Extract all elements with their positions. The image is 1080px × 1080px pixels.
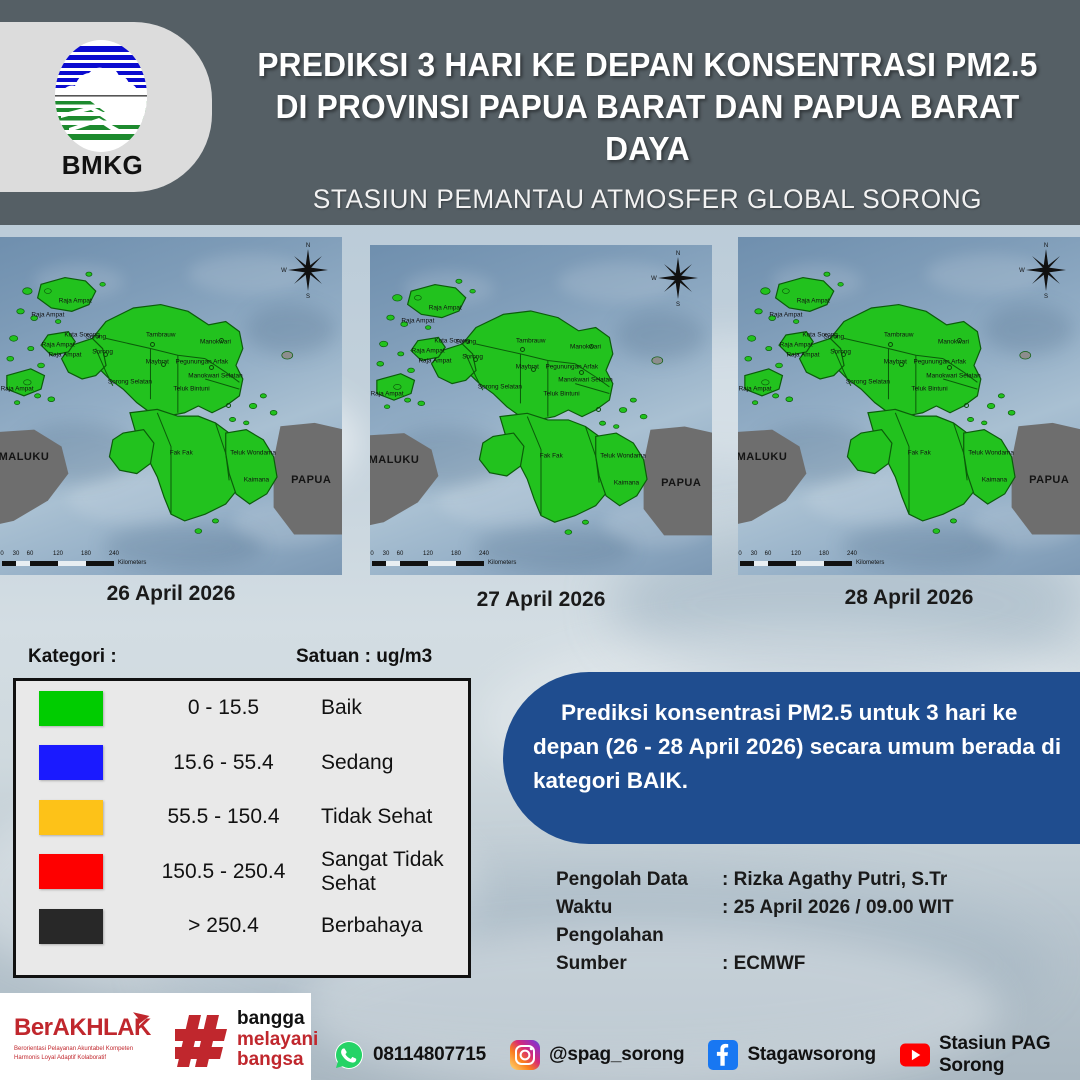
map-island — [762, 380, 770, 385]
social-label: Stasiun PAG Sorong — [939, 1033, 1064, 1077]
bangga-line3: bangsa — [237, 1050, 318, 1071]
map-island — [24, 380, 32, 385]
map-island — [745, 356, 752, 361]
map-island — [793, 320, 798, 324]
scale-segment — [796, 561, 824, 566]
scale-segment — [400, 561, 428, 566]
map-region-label: Tambrauw — [884, 332, 913, 339]
map-region-polygon — [408, 285, 466, 318]
metadata-block: Pengolah Data: Rizka Agathy Putri, S.TrW… — [556, 866, 954, 978]
map-region-label: Sorong — [823, 333, 844, 340]
scale-tick-label: 0 — [738, 551, 741, 557]
map-date-caption: 28 April 2026 — [738, 586, 1080, 610]
map-region-label: Sorong Selatan — [108, 379, 152, 386]
map-region-polygon — [776, 278, 834, 312]
map-island — [752, 401, 757, 405]
social-label: @spag_sorong — [549, 1044, 684, 1066]
social-link[interactable]: Stagawsorong — [708, 1040, 876, 1070]
maluku-landmass — [0, 430, 68, 528]
facebook-icon[interactable] — [708, 1040, 738, 1070]
scale-tick-label: 60 — [765, 551, 772, 557]
map-region-label: Teluk Wondama — [230, 450, 276, 457]
map-region-label: Raja Ampat — [418, 357, 451, 364]
map-province-label: PAPUA — [1029, 474, 1069, 486]
scale-segment — [372, 561, 386, 566]
compass-rose-icon: N S W — [280, 241, 336, 299]
map-island — [987, 403, 995, 408]
footer-logo-band: BerAKHLAK Berorientasi Pelayanan Akuntab… — [0, 993, 311, 1080]
map-island — [23, 288, 33, 295]
map-region-label: Kaimana — [982, 477, 1007, 484]
svg-text:N: N — [306, 243, 310, 249]
scale-tick-label: 120 — [423, 551, 433, 557]
map-island — [786, 397, 793, 402]
map-region-label: Manokwari — [200, 338, 231, 345]
map-island — [405, 398, 411, 402]
metadata-key: Sumber — [556, 950, 722, 978]
map-scale-bar: 03060120180240Kilometers — [740, 551, 920, 569]
scale-tick-label: 120 — [53, 551, 63, 557]
map-island — [377, 361, 384, 366]
page-title-line1: PREDIKSI 3 HARI KE DEPAN KONSENTRASI PM2… — [232, 44, 1062, 86]
berakhlak-tagline: Berorientasi Pelayanan Akuntabel Kompete… — [14, 1045, 164, 1062]
map-date-caption: 27 April 2026 — [370, 588, 712, 612]
scale-segment — [386, 561, 400, 566]
map-region-label: Tambrauw — [516, 337, 545, 344]
map-scale-bar: 03060120180240Kilometers — [372, 551, 552, 569]
maluku-landmass — [370, 433, 438, 529]
map-province-label: MALUKU — [738, 451, 787, 463]
svg-text:S: S — [676, 302, 680, 307]
map-island — [10, 336, 18, 342]
map-panel: Raja AmpatRaja AmpatRaja AmpatRaja Ampat… — [738, 237, 1080, 575]
scale-tick-label: 30 — [383, 551, 390, 557]
summary-callout-text: Prediksi konsentrasi PM2.5 untuk 3 hari … — [533, 696, 1063, 798]
legend-row: 0 - 15.5Baik — [16, 681, 468, 736]
map-region-label: Raja Ampat — [739, 386, 772, 393]
map-region-label: Manokwari — [938, 338, 969, 345]
legend-category-label: Berbahaya — [321, 914, 461, 938]
map-island — [414, 295, 421, 300]
legend-swatch-cell — [16, 745, 126, 780]
legend-color-swatch — [39, 800, 103, 835]
map-island — [838, 282, 843, 286]
scale-tick-label: 240 — [109, 551, 119, 557]
legend-range-value: > 250.4 — [126, 914, 321, 938]
metadata-value: : 25 April 2026 / 09.00 WIT — [722, 894, 954, 950]
legend-swatch-cell — [16, 854, 126, 889]
legend-range-value: 15.6 - 55.4 — [126, 751, 321, 775]
map-island — [380, 341, 388, 347]
scale-tick-label: 240 — [847, 551, 857, 557]
map-island — [630, 398, 636, 402]
map-island — [824, 272, 830, 276]
map-island — [86, 272, 92, 276]
map-region-label: Manokwari Selatan — [926, 372, 980, 379]
map-capital-dot — [899, 362, 904, 367]
map-island — [249, 403, 257, 408]
map-region-label: Raja Ampat — [371, 390, 404, 397]
map-region-label: Teluk Bintuni — [911, 386, 947, 393]
bangga-line2: melayani — [237, 1030, 318, 1051]
bmkg-logo-icon — [55, 40, 147, 152]
hash-icon — [175, 1015, 231, 1067]
map-province-label: MALUKU — [0, 451, 49, 463]
scale-segment — [86, 561, 114, 566]
svg-text:W: W — [1019, 268, 1025, 274]
map-region-label: Sorong Selatan — [846, 379, 890, 386]
page-title-line2: DI PROVINSI PAPUA BARAT DAN PAPUA BARAT … — [232, 86, 1062, 170]
legend-swatch-cell — [16, 909, 126, 944]
metadata-key: Pengolah Data — [556, 866, 722, 894]
map-island — [55, 320, 60, 324]
svg-text:N: N — [676, 251, 680, 257]
map-region-label: Pegunungan Arfak — [175, 359, 228, 366]
scale-segment — [58, 561, 86, 566]
map-region-label: Raja Ampat — [59, 298, 92, 305]
map-island — [565, 530, 572, 535]
map-island — [35, 394, 41, 398]
map-capital-dot — [161, 362, 166, 367]
map-island — [766, 346, 772, 350]
map-capital-dot — [531, 367, 536, 372]
map-region-polygon — [847, 430, 891, 474]
map-region-label: Kaimana — [614, 479, 639, 486]
map-island — [17, 309, 25, 314]
metadata-row: Sumber: ECMWF — [556, 950, 954, 978]
map-scale-bar: 03060120180240Kilometers — [2, 551, 182, 569]
maluku-landmass — [738, 430, 806, 528]
map-island — [418, 401, 425, 406]
map-island — [260, 394, 266, 398]
map-island — [1020, 352, 1031, 360]
social-label: 08114807715 — [373, 1044, 486, 1066]
metadata-row: Pengolah Data: Rizka Agathy Putri, S.Tr — [556, 866, 954, 894]
map-date-caption: 26 April 2026 — [0, 582, 342, 606]
legend-color-swatch — [39, 854, 103, 889]
scale-tick-label: 0 — [370, 551, 373, 557]
scale-unit-label: Kilometers — [488, 560, 516, 566]
header-title-group: PREDIKSI 3 HARI KE DEPAN KONSENTRASI PM2… — [215, 44, 1080, 215]
scale-unit-label: Kilometers — [118, 560, 146, 566]
map-region-label: Fak Fak — [908, 450, 931, 457]
map-region-label: Raja Ampat — [1, 386, 34, 393]
scale-unit-label: Kilometers — [856, 560, 884, 566]
map-island — [761, 288, 771, 295]
svg-text:S: S — [306, 294, 310, 299]
map-island — [640, 414, 647, 419]
map-island — [950, 519, 956, 523]
legend-row: 150.5 - 250.4Sangat Tidak Sehat — [16, 845, 468, 900]
map-region-label: Raja Ampat — [429, 304, 462, 311]
map-region-polygon — [479, 433, 523, 476]
map-island — [212, 519, 218, 523]
scale-tick-label: 60 — [27, 551, 34, 557]
map-island — [425, 326, 430, 330]
map-capital-dot — [596, 407, 601, 412]
svg-text:W: W — [281, 268, 287, 274]
map-island — [195, 529, 202, 534]
map-capital-dot — [589, 344, 594, 349]
map-island — [582, 520, 588, 524]
scale-tick-label: 240 — [479, 551, 489, 557]
map-island — [28, 346, 34, 350]
map-capital-dot — [226, 403, 231, 408]
legend-swatch-cell — [16, 691, 126, 726]
map-region-label: Raja Ampat — [797, 298, 830, 305]
map-region-label: Teluk Bintuni — [173, 386, 209, 393]
map-region-polygon — [109, 430, 153, 474]
scale-tick-label: 120 — [791, 551, 801, 557]
whatsapp-icon[interactable] — [334, 1040, 364, 1070]
map-island — [470, 289, 475, 293]
legend-kategori-label: Kategori : — [28, 646, 117, 668]
map-region-label: Pegunungan Arfak — [545, 364, 598, 371]
map-region-label: Teluk Wondama — [968, 450, 1014, 457]
map-panel: Raja AmpatRaja AmpatRaja AmpatRaja Ampat… — [370, 245, 712, 575]
legend-row: 55.5 - 150.4Tidak Sehat — [16, 790, 468, 845]
map-island — [270, 410, 277, 415]
logo-plate: BMKG — [0, 22, 212, 192]
map-region-label: Raja Ampat — [31, 311, 64, 318]
map-region-label: Raja Ampat — [401, 317, 434, 324]
bmkg-logo-label: BMKG — [0, 150, 205, 181]
map-region-label: Raja Ampat — [48, 352, 81, 359]
svg-text:N: N — [1044, 243, 1048, 249]
metadata-value: : Rizka Agathy Putri, S.Tr — [722, 866, 947, 894]
map-island — [456, 279, 462, 283]
metadata-row: Waktu Pengolahan: 25 April 2026 / 09.00 … — [556, 894, 954, 950]
legend-color-swatch — [39, 745, 103, 780]
berakhlak-tagline-line2: Harmonis Loyal Adaptif Kolaboratif — [14, 1054, 164, 1063]
map-island — [384, 405, 389, 409]
map-island — [393, 295, 403, 301]
map-island — [773, 394, 779, 398]
map-region-label: Teluk Bintuni — [543, 390, 579, 397]
map-island — [599, 421, 605, 425]
map-island — [398, 352, 404, 356]
map-capital-dot — [964, 403, 969, 408]
map-region-label: Sorong — [455, 339, 476, 346]
legend-category-label: Baik — [321, 696, 461, 720]
scale-segment — [456, 561, 484, 566]
map-island — [652, 357, 663, 364]
bangga-text: bangga melayani bangsa — [237, 1009, 318, 1071]
map-island — [7, 356, 14, 361]
instagram-icon[interactable] — [510, 1040, 540, 1070]
scale-tick-label: 30 — [751, 551, 758, 557]
svg-text:W: W — [651, 276, 657, 282]
map-island — [782, 289, 789, 294]
map-region-label: Teluk Wondama — [600, 453, 646, 460]
map-region-label: Manokwari Selatan — [188, 372, 242, 379]
map-region-label: Kaimana — [244, 477, 269, 484]
berakhlak-tagline-line1: Berorientasi Pelayanan Akuntabel Kompete… — [14, 1045, 164, 1054]
compass-rose-icon: N S W — [650, 249, 706, 307]
map-island — [387, 315, 395, 320]
map-island — [1008, 410, 1015, 415]
compass-rose-icon: N S W — [1018, 241, 1074, 299]
legend-swatch-cell — [16, 800, 126, 835]
map-island — [619, 407, 627, 412]
legend-row: 15.6 - 55.4Sedang — [16, 736, 468, 791]
scale-tick-label: 60 — [397, 551, 404, 557]
map-region-polygon — [38, 278, 96, 312]
map-island — [244, 421, 249, 425]
map-island — [408, 368, 415, 373]
map-island — [755, 309, 763, 314]
map-region-label: Pegunungan Arfak — [913, 359, 966, 366]
map-province-label: PAPUA — [291, 474, 331, 486]
scale-segment — [740, 561, 754, 566]
map-island — [14, 401, 19, 405]
map-region-label: Manokwari — [570, 344, 601, 351]
map-island — [394, 384, 402, 389]
social-link[interactable]: @spag_sorong — [510, 1040, 684, 1070]
header-banner: BMKG PREDIKSI 3 HARI KE DEPAN KONSENTRAS… — [0, 0, 1080, 225]
map-region-label: Manokwari Selatan — [558, 377, 612, 384]
map-region-label: Raja Ampat — [780, 342, 813, 349]
legend-category-label: Sedang — [321, 751, 461, 775]
metadata-key: Waktu Pengolahan — [556, 894, 722, 950]
legend-range-value: 55.5 - 150.4 — [126, 805, 321, 829]
legend-category-label: Sangat Tidak Sehat — [321, 848, 461, 896]
map-region-label: Fak Fak — [170, 450, 193, 457]
page-subtitle: STASIUN PEMANTAU ATMOSFER GLOBAL SORONG — [228, 184, 1067, 215]
map-capital-dot — [473, 357, 478, 362]
scale-tick-label: 180 — [81, 551, 91, 557]
map-region-label: Raja Ampat — [786, 352, 819, 359]
map-region-label: Tambrauw — [146, 332, 175, 339]
map-island — [614, 425, 619, 429]
map-province-label: PAPUA — [661, 477, 701, 489]
metadata-value: : ECMWF — [722, 950, 805, 978]
social-label: Stagawsorong — [747, 1044, 876, 1066]
map-island — [282, 352, 293, 360]
youtube-icon[interactable] — [900, 1040, 930, 1070]
scale-segment — [754, 561, 768, 566]
scale-segment — [16, 561, 30, 566]
map-island — [48, 397, 55, 402]
scale-tick-label: 180 — [819, 551, 829, 557]
map-island — [967, 417, 973, 421]
legend-range-value: 150.5 - 250.4 — [126, 860, 321, 884]
scale-tick-label: 180 — [451, 551, 461, 557]
map-region-label: Sorong — [85, 333, 106, 340]
map-panel: Raja AmpatRaja AmpatRaja AmpatRaja Ampat… — [0, 237, 342, 575]
scale-tick-label: 0 — [0, 551, 3, 557]
map-island — [998, 394, 1004, 398]
legend-box: 0 - 15.5Baik15.6 - 55.4Sedang55.5 - 150.… — [13, 678, 471, 978]
summary-callout: Prediksi konsentrasi PM2.5 untuk 3 hari … — [503, 672, 1080, 844]
scale-tick-label: 30 — [13, 551, 20, 557]
legend-color-swatch — [39, 909, 103, 944]
map-region-label: Raja Ampat — [769, 311, 802, 318]
legend-color-swatch — [39, 691, 103, 726]
map-island — [776, 363, 783, 368]
map-region-label: Raja Ampat — [42, 342, 75, 349]
legend-category-label: Tidak Sehat — [321, 805, 461, 829]
map-capital-dot — [841, 352, 846, 357]
map-island — [933, 529, 940, 534]
scale-segment — [768, 561, 796, 566]
social-link[interactable]: Stasiun PAG Sorong — [900, 1033, 1064, 1077]
svg-text:S: S — [1044, 294, 1048, 299]
legend-satuan-label: Satuan : ug/m3 — [296, 646, 432, 668]
map-region-label: Fak Fak — [540, 453, 563, 460]
map-island — [38, 363, 45, 368]
social-link[interactable]: 08114807715 — [334, 1040, 486, 1070]
scale-segment — [2, 561, 16, 566]
map-island — [982, 421, 987, 425]
map-province-label: MALUKU — [370, 454, 419, 466]
map-region-label: Raja Ampat — [412, 347, 445, 354]
map-island — [44, 289, 51, 294]
legend-row: > 250.4Berbahaya — [16, 899, 468, 954]
map-capital-dot — [103, 352, 108, 357]
scale-segment — [30, 561, 58, 566]
scale-segment — [428, 561, 456, 566]
legend-range-value: 0 - 15.5 — [126, 696, 321, 720]
map-island — [748, 336, 756, 342]
scale-segment — [824, 561, 852, 566]
social-links: 08114807715@spag_sorongStagawsorongStasi… — [334, 1033, 1080, 1077]
map-island — [229, 417, 235, 421]
map-island — [100, 282, 105, 286]
bangga-line1: bangga — [237, 1009, 318, 1030]
map-region-label: Sorong Selatan — [478, 383, 522, 390]
